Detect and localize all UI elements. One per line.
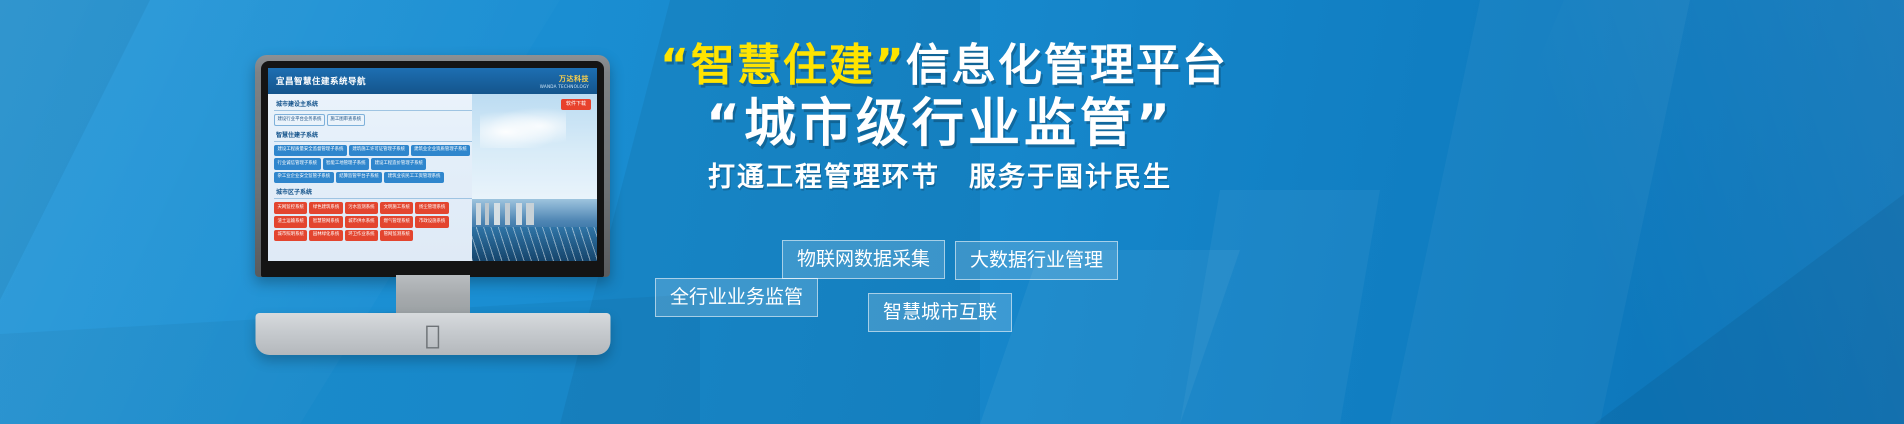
app-nav-item[interactable]: 建筑业农民工工资管理系统: [384, 172, 444, 184]
tag-iot-data-collection[interactable]: 物联网数据采集: [782, 240, 945, 279]
section-title: 智慧住建子系统: [274, 130, 472, 142]
app-nav-item[interactable]: 建筑业企业资质管理子系统: [411, 145, 471, 157]
app-nav-item[interactable]: 城市供水系统: [345, 216, 378, 228]
app-nav-item[interactable]: 城市照明系统: [274, 230, 307, 242]
section-title: 城市区子系统: [274, 187, 472, 199]
headline-line-1: “智慧住建”信息化管理平台: [660, 40, 1220, 92]
app-nav-item[interactable]: 建筑施工许可证管理子系统: [349, 145, 409, 157]
app-nav-item[interactable]: 环卫作业系统: [345, 230, 378, 242]
app-logo-line2: WANDA TECHNOLOGY: [540, 84, 589, 89]
software-download-button[interactable]: 软件下载: [561, 99, 591, 110]
app-nav-item[interactable]: 污水监测系统: [345, 202, 378, 214]
app-nav-item[interactable]: 天网监控系统: [274, 202, 307, 214]
app-nav-item[interactable]: 智慧管网系统: [309, 216, 342, 228]
app-nav-item[interactable]: 渣土运输系统: [274, 216, 307, 228]
tag-bigdata-industry-management[interactable]: 大数据行业管理: [955, 241, 1118, 280]
promo-banner: 宜昌智慧住建系统导航 万达科技 WANDA TECHNOLOGY 软件下载 城市…: [0, 0, 1904, 424]
app-nav-item[interactable]: 建设工程造价管理子系统: [371, 158, 426, 170]
app-nav-item[interactable]: 建设工程质量安全监督管理子系统: [274, 145, 347, 157]
background-facet-5: [1474, 194, 1904, 424]
app-nav-item[interactable]: 扬尘管理系统: [415, 202, 448, 214]
monitor-stand-neck: [396, 275, 470, 317]
tag-smart-city-interconnect[interactable]: 智慧城市互联: [868, 293, 1012, 332]
banner-copy: “智慧住建”信息化管理平台 “城市级行业监管” 打通工程管理环节 服务于国计民生: [640, 40, 1820, 196]
app-nav-item[interactable]: 市政设施系统: [415, 216, 448, 228]
app-nav-item[interactable]: 燃气管理系统: [380, 216, 413, 228]
app-body: 软件下载 城市建设主系统 建设行业平台业务系统 施工图审查系统 智慧住建子系统: [268, 94, 597, 261]
tag-all-industry-supervision[interactable]: 全行业业务监管: [655, 278, 818, 317]
app-nav-item[interactable]: 园林绿化系统: [309, 230, 342, 242]
headline-subline: 打通工程管理环节 服务于国计民生: [660, 160, 1220, 196]
app-nav-item[interactable]: 施工图审查系统: [327, 114, 365, 126]
app-nav-item[interactable]: 管网监测系统: [380, 230, 413, 242]
section-item-list: 建设工程质量安全监督管理子系统 建筑施工许可证管理子系统 建筑业企业资质管理子系…: [274, 145, 474, 184]
app-section-smart-housing: 智慧住建子系统 建设工程质量安全监督管理子系统 建筑施工许可证管理子系统 建筑业…: [274, 130, 591, 184]
app-title: 宜昌智慧住建系统导航: [276, 75, 366, 87]
app-logo-line1: 万达科技: [559, 74, 589, 84]
app-section-city-district: 城市区子系统 天网监控系统 绿色建筑系统 污水监测系统 文明施工系统 扬尘管理系…: [274, 187, 591, 241]
imac-mockup: 宜昌智慧住建系统导航 万达科技 WANDA TECHNOLOGY 软件下载 城市…: [255, 55, 610, 335]
section-item-list: 建设行业平台业务系统 施工图审查系统: [274, 114, 474, 126]
app-nav-item[interactable]: 建设行业平台业务系统: [274, 114, 325, 126]
monitor-screen: 宜昌智慧住建系统导航 万达科技 WANDA TECHNOLOGY 软件下载 城市…: [268, 68, 597, 261]
headline-highlight: “智慧住建”: [660, 40, 906, 91]
app-nav-item[interactable]: 杂工业企业安全监管子系统: [274, 172, 334, 184]
app-logo: 万达科技 WANDA TECHNOLOGY: [540, 74, 589, 89]
section-title: 城市建设主系统: [274, 99, 472, 111]
background-facet-7: [1180, 190, 1380, 424]
app-header: 宜昌智慧住建系统导航 万达科技 WANDA TECHNOLOGY: [268, 68, 597, 94]
app-nav-item[interactable]: 绿色建筑系统: [309, 202, 342, 214]
headline-line-2: “城市级行业监管”: [660, 92, 1220, 156]
section-item-list: 天网监控系统 绿色建筑系统 污水监测系统 文明施工系统 扬尘管理系统 渣土运输系…: [274, 202, 474, 241]
app-nav-item[interactable]: 文明施工系统: [380, 202, 413, 214]
app-section-city-construction: 城市建设主系统 建设行业平台业务系统 施工图审查系统: [274, 99, 591, 126]
apple-logo-icon: : [425, 323, 441, 349]
monitor-inner-frame: 宜昌智慧住建系统导航 万达科技 WANDA TECHNOLOGY 软件下载 城市…: [261, 61, 604, 277]
app-nav-item[interactable]: 结算监管平台子系统: [336, 172, 383, 184]
monitor-bezel: 宜昌智慧住建系统导航 万达科技 WANDA TECHNOLOGY 软件下载 城市…: [255, 55, 610, 277]
app-nav-item[interactable]: 行业诚信管理子系统: [274, 158, 321, 170]
app-nav-item[interactable]: 智能工地管理子系统: [323, 158, 370, 170]
headline-rest: 信息化管理平台: [906, 40, 1228, 91]
